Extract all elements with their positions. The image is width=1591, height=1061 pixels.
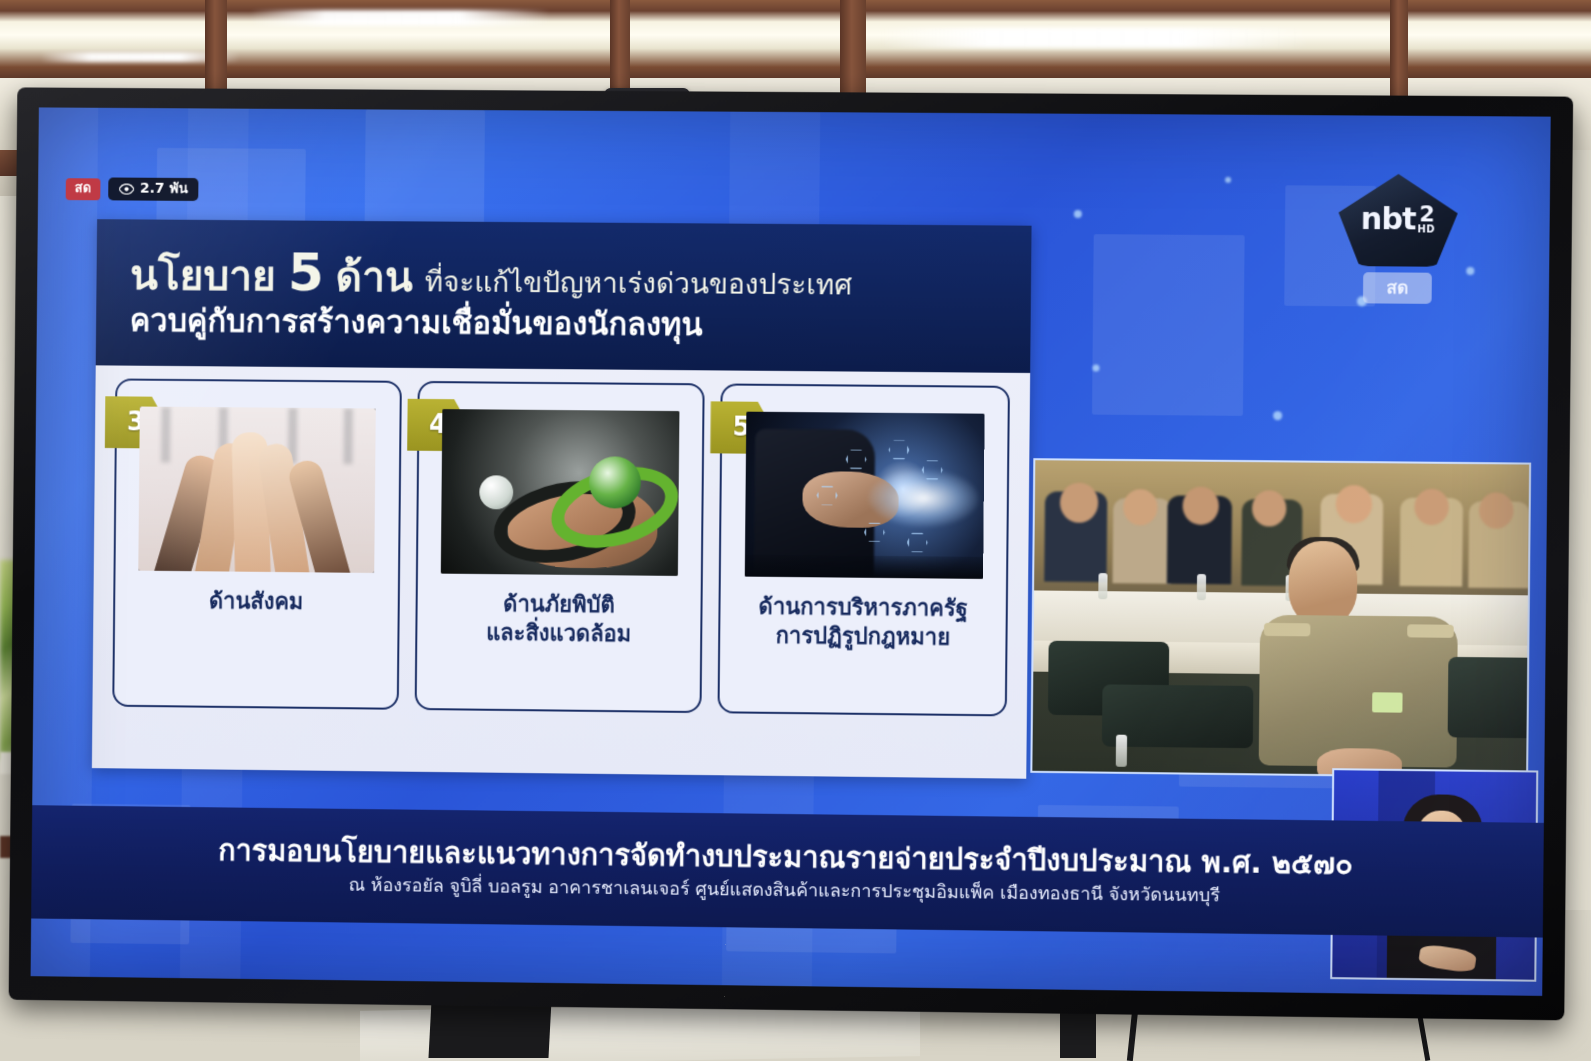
window-glare [250, 10, 550, 26]
card-label: ด้านการบริหารภาครัฐ การปฏิรูปกฎหมาย [758, 593, 968, 653]
tv-screen: สด 2.7 พัน [31, 107, 1551, 995]
broadcast-frame: สด 2.7 พัน [31, 107, 1551, 995]
policy-card-list: 3 [112, 378, 1010, 716]
slide-headline-line2: ควบคู่กับการสร้างความเชื่อมั่นของนักลงทุ… [130, 304, 1031, 347]
card-label: ด้านสังคม [209, 587, 304, 617]
caption-bar: การมอบนโยบายและแนวทางการจัดทำงบประมาณราย… [31, 805, 1544, 937]
policy-card: 3 [112, 378, 401, 709]
audience-video-panel [1030, 458, 1531, 778]
channel-logo: nbt 2 HD สด [1335, 174, 1461, 305]
presentation-slide: นโยบาย 5 ด้าน ที่จะแก้ไขปัญหาเร่งด่วนของ… [92, 219, 1032, 779]
tv-stand-leg [428, 1000, 551, 1058]
headline-lead: นโยบาย [130, 254, 276, 298]
channel-logo-superscript: 2 HD [1417, 205, 1435, 235]
television: สด 2.7 พัน [9, 87, 1574, 1020]
channel-logo-text: nbt 2 HD [1361, 205, 1436, 236]
policy-card: 4 ด้านภัยพ [414, 381, 705, 713]
policy-card: 5 [718, 383, 1010, 716]
card-label-line2: และสิ่งแวดล้อม [486, 619, 631, 649]
slide-headline-line1: นโยบาย 5 ด้าน ที่จะแก้ไขปัญหาเร่งด่วนของ… [130, 246, 1031, 305]
card-image-environment [441, 409, 680, 576]
hands-together-photo [139, 407, 377, 573]
clerestory-window [0, 0, 1591, 78]
card-image-hands-together [139, 407, 377, 573]
viewer-count-badge: 2.7 พัน [108, 177, 199, 201]
headline-number: 5 [288, 247, 324, 299]
channel-live-label: สด [1363, 272, 1432, 304]
channel-number: 2 [1419, 205, 1434, 225]
card-label-line2: การปฏิรูปกฎหมาย [758, 622, 968, 653]
window-glare [880, 28, 1310, 48]
card-label-line1: ด้านการบริหารภาครัฐ [758, 593, 968, 624]
channel-quality: HD [1417, 225, 1435, 235]
headline-tail: ที่จะแก้ไขปัญหาเร่งด่วนของประเทศ [425, 267, 853, 301]
channel-logo-mark: nbt 2 HD [1338, 174, 1458, 267]
card-label-line1: ด้านภัยพิบัติ [486, 590, 631, 620]
caption-venue: ณ ห้องรอยัล จูบิลี่ บอลรูม อาคารชาเลนเจอ… [348, 875, 1220, 907]
slide-header: นโยบาย 5 ด้าน ที่จะแก้ไขปัญหาเร่งด่วนของ… [96, 219, 1032, 373]
headline-unit: ด้าน [335, 255, 413, 298]
viewer-count-value: 2.7 พัน [140, 182, 188, 198]
photo-of-tv-screen: OKER [0, 0, 1591, 1061]
live-badge: สด [66, 178, 101, 200]
card-image-technology [744, 412, 984, 579]
channel-name: nbt [1361, 205, 1416, 236]
eye-icon [119, 184, 134, 195]
live-status-row: สด 2.7 พัน [66, 177, 199, 201]
card-label: ด้านภัยพิบัติ และสิ่งแวดล้อม [486, 590, 632, 649]
government-official [1259, 540, 1463, 776]
hand-holding-globe-photo [441, 409, 680, 576]
digital-interface-photo [744, 412, 984, 579]
audience-photo [1032, 460, 1529, 776]
